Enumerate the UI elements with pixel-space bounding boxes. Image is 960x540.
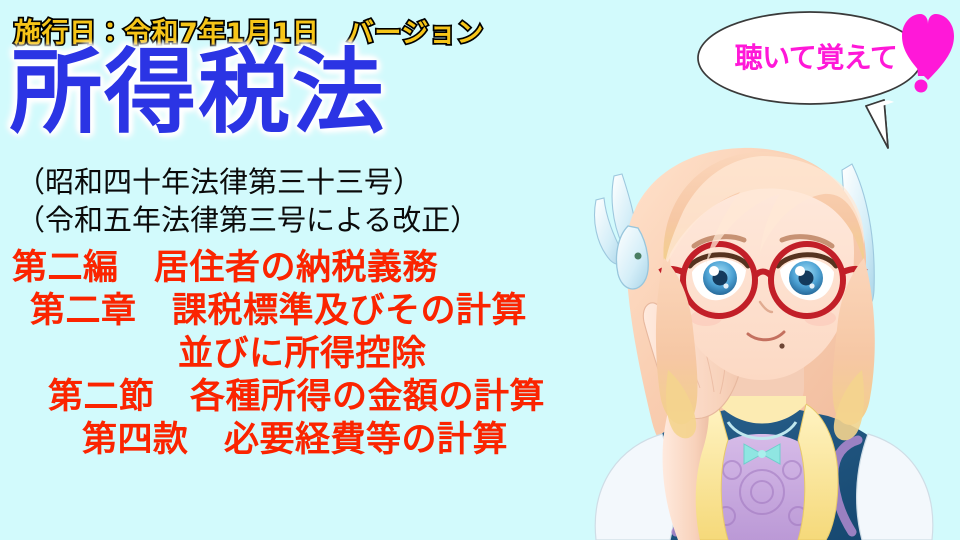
video-thumbnail: 施行日：令和7年1月1日 バージョン 所得税法 （昭和四十年法律第三十三号） （… bbox=[0, 0, 960, 540]
heading-line-sho: 第二章 課税標準及びその計算 bbox=[0, 289, 700, 332]
law-reference-amendment: （令和五年法律第三号による改正） bbox=[16, 206, 479, 235]
heading-block: 第二編 居住者の納税義務 第二章 課税標準及びその計算 並びに所得控除 第二節 … bbox=[0, 246, 700, 461]
page-title: 所得税法 bbox=[10, 46, 386, 140]
exclamation-mark-icon bbox=[910, 54, 934, 94]
heading-line-kan: 第四款 必要経費等の計算 bbox=[0, 418, 700, 461]
heading-line-hen: 第二編 居住者の納税義務 bbox=[0, 246, 700, 289]
heading-line-sho-cont: 並びに所得控除 bbox=[0, 332, 700, 375]
speech-bubble: 聴いて覚えて bbox=[688, 2, 960, 162]
speech-bubble-text: 聴いて覚えて bbox=[710, 36, 922, 76]
law-reference-original: （昭和四十年法律第三十三号） bbox=[16, 168, 422, 197]
heading-line-setsu: 第二節 各種所得の金額の計算 bbox=[0, 375, 700, 418]
